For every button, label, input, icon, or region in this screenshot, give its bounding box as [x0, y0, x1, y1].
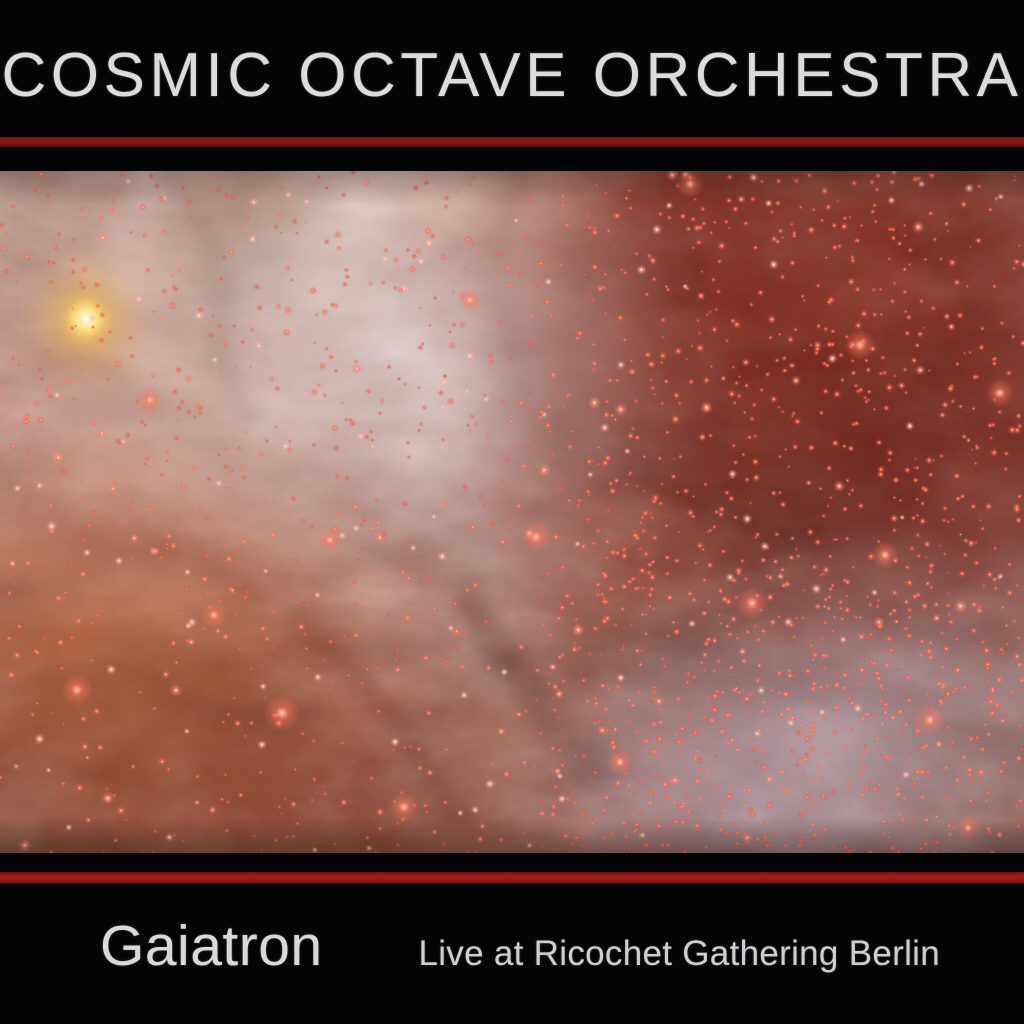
top-red-rule [0, 137, 1024, 147]
album-cover: COSMIC OCTAVE ORCHESTRA Gaiatron Live at… [0, 0, 1024, 1024]
nebula-star-field [0, 171, 1024, 853]
bottom-red-rule [0, 872, 1024, 884]
footer-text-row: Gaiatron Live at Ricochet Gathering Berl… [100, 916, 940, 986]
artist-name: COSMIC OCTAVE ORCHESTRA [0, 40, 1024, 112]
album-title: Gaiatron [100, 916, 323, 976]
nebula-artwork [0, 171, 1024, 853]
album-subtitle: Live at Ricochet Gathering Berlin [418, 924, 940, 984]
